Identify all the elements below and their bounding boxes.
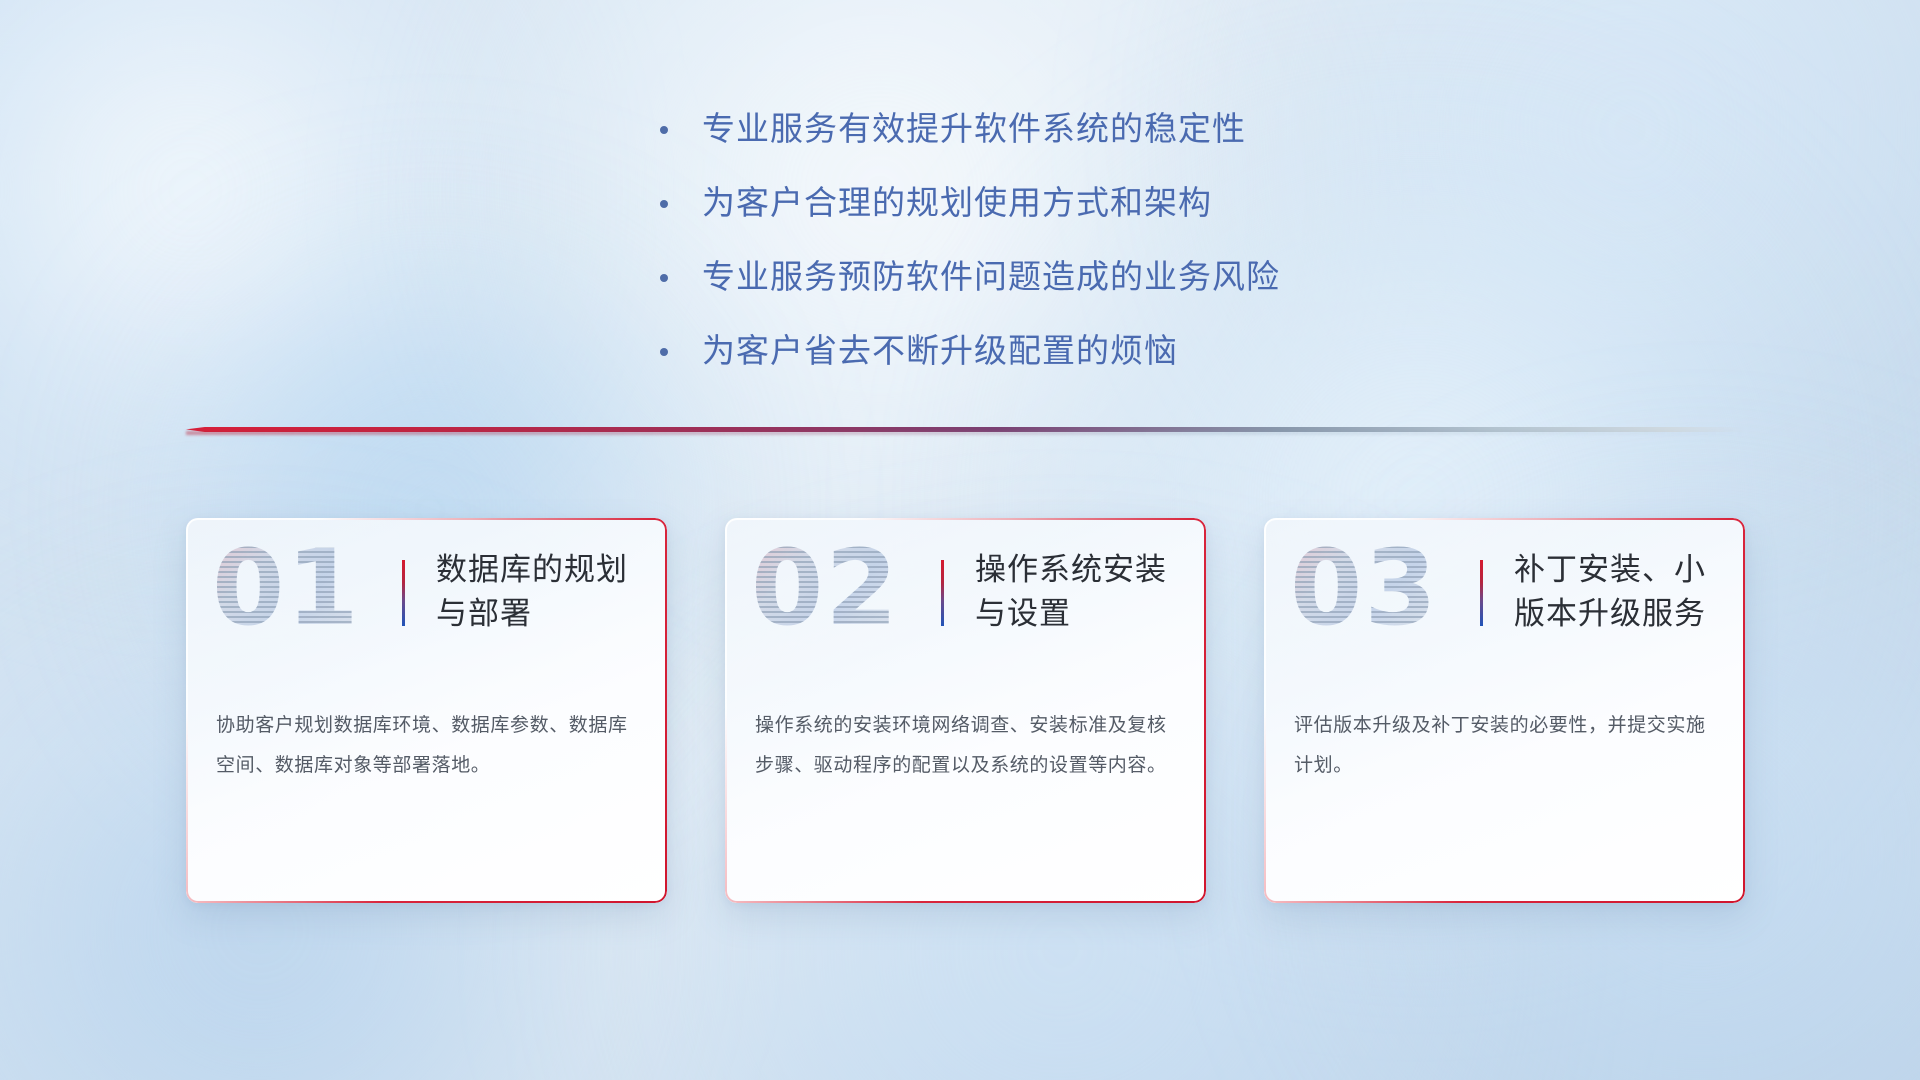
bullet-item: 为客户省去不断升级配置的烦恼 [660, 330, 1500, 372]
card-header: 02 操作系统安装与设置 [725, 518, 1206, 666]
service-card-list: 01 数据库的规划与部署 协助客户规划数据库环境、数据库参数、数据库空间、数据库… [186, 518, 1746, 918]
service-card[interactable]: 01 数据库的规划与部署 协助客户规划数据库环境、数据库参数、数据库空间、数据库… [186, 518, 667, 903]
card-number: 01 [212, 536, 361, 640]
card-title: 数据库的规划与部署 [436, 548, 642, 636]
bullet-dot-icon [660, 348, 668, 356]
card-divider-bar [1480, 560, 1483, 626]
bullet-list: 专业服务有效提升软件系统的稳定性 为客户合理的规划使用方式和架构 专业服务预防软… [660, 108, 1500, 404]
bullet-dot-icon [660, 200, 668, 208]
bullet-dot-icon [660, 274, 668, 282]
card-body-text: 协助客户规划数据库环境、数据库参数、数据库空间、数据库对象等部署落地。 [216, 706, 644, 786]
card-title: 操作系统安装与设置 [975, 548, 1181, 636]
bullet-text: 为客户省去不断升级配置的烦恼 [702, 330, 1178, 372]
bullet-dot-icon [660, 126, 668, 134]
card-body-text: 评估版本升级及补丁安装的必要性，并提交实施计划。 [1294, 706, 1722, 786]
section-divider [186, 424, 1746, 438]
bullet-text: 为客户合理的规划使用方式和架构 [702, 182, 1212, 224]
bullet-text: 专业服务有效提升软件系统的稳定性 [702, 108, 1246, 150]
card-header: 03 补丁安装、小版本升级服务 [1264, 518, 1745, 666]
card-body-text: 操作系统的安装环境网络调查、安装标准及复核步骤、驱动程序的配置以及系统的设置等内… [755, 706, 1183, 786]
card-title: 补丁安装、小版本升级服务 [1514, 548, 1720, 636]
bullet-item: 为客户合理的规划使用方式和架构 [660, 182, 1500, 224]
card-number: 02 [751, 536, 900, 640]
service-card[interactable]: 03 补丁安装、小版本升级服务 评估版本升级及补丁安装的必要性，并提交实施计划。 [1264, 518, 1745, 903]
bullet-item: 专业服务有效提升软件系统的稳定性 [660, 108, 1500, 150]
card-header: 01 数据库的规划与部署 [186, 518, 667, 666]
service-card[interactable]: 02 操作系统安装与设置 操作系统的安装环境网络调查、安装标准及复核步骤、驱动程… [725, 518, 1206, 903]
bullet-item: 专业服务预防软件问题造成的业务风险 [660, 256, 1500, 298]
card-divider-bar [402, 560, 405, 626]
divider-sheen [186, 431, 1746, 435]
card-divider-bar [941, 560, 944, 626]
card-number: 03 [1290, 536, 1439, 640]
bullet-text: 专业服务预防软件问题造成的业务风险 [702, 256, 1280, 298]
